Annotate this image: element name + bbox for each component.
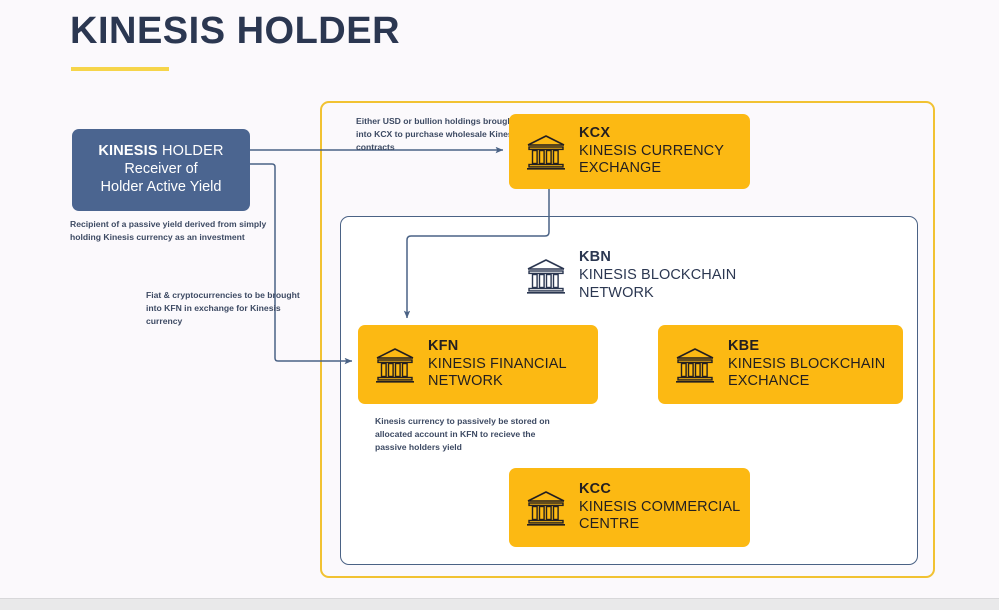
bank-icon bbox=[523, 132, 569, 172]
node-kcx[interactable]: KCX KINESIS CURRENCY EXCHANGE bbox=[509, 114, 750, 189]
node-kbn-name-line2: NETWORK bbox=[579, 285, 736, 303]
window-bottom-strip bbox=[0, 598, 999, 610]
node-kbe[interactable]: KBE KINESIS BLOCKCHAIN EXCHANCE bbox=[658, 325, 903, 404]
node-kcc-text: KCC KINESIS COMMERCIAL CENTRE bbox=[579, 481, 740, 534]
node-kfn[interactable]: KFN KINESIS FINANCIAL NETWORK bbox=[358, 325, 598, 404]
node-kcx-text: KCX KINESIS CURRENCY EXCHANGE bbox=[579, 125, 724, 178]
node-kcx-code: KCX bbox=[579, 125, 724, 143]
node-kfn-code: KFN bbox=[428, 338, 567, 356]
kinesis-holder-box[interactable]: KINESIS HOLDER Receiver of Holder Active… bbox=[72, 129, 250, 211]
node-kbn-name-line1: KINESIS BLOCKCHAIN bbox=[579, 267, 736, 285]
node-kbn: KBN KINESIS BLOCKCHAIN NETWORK bbox=[509, 244, 809, 308]
node-kfn-text: KFN KINESIS FINANCIAL NETWORK bbox=[428, 338, 567, 391]
holder-title-strong: KINESIS bbox=[98, 143, 157, 159]
diagram-canvas: KINESIS HOLDER KINESIS HOLDER Receiver bbox=[0, 0, 999, 598]
node-kcx-name-line1: KINESIS CURRENCY bbox=[579, 143, 724, 161]
bank-icon bbox=[523, 488, 569, 528]
node-kfn-name-line2: NETWORK bbox=[428, 373, 567, 391]
holder-subtitle-line2: Holder Active Yield bbox=[101, 179, 222, 197]
holder-title-rest: HOLDER bbox=[158, 143, 224, 159]
page-title: KINESIS HOLDER bbox=[70, 10, 400, 53]
node-kcx-name-line2: EXCHANGE bbox=[579, 160, 724, 178]
node-kbe-name-line2: EXCHANCE bbox=[728, 373, 885, 391]
annotation-holder-to-kcx: Either USD or bullion holdings brought i… bbox=[356, 115, 521, 154]
holder-caption: Recipient of a passive yield derived fro… bbox=[70, 218, 270, 243]
node-kcc[interactable]: KCC KINESIS COMMERCIAL CENTRE bbox=[509, 468, 750, 547]
bank-icon bbox=[372, 345, 418, 385]
node-kcc-name-line2: CENTRE bbox=[579, 516, 740, 534]
node-kbe-name-line1: KINESIS BLOCKCHAIN bbox=[728, 356, 885, 374]
holder-subtitle-line1: Receiver of bbox=[124, 161, 197, 179]
node-kfn-name-line1: KINESIS FINANCIAL bbox=[428, 356, 567, 374]
node-kbn-text: KBN KINESIS BLOCKCHAIN NETWORK bbox=[579, 249, 736, 302]
node-kbe-text: KBE KINESIS BLOCKCHAIN EXCHANCE bbox=[728, 338, 885, 391]
node-kcc-name-line1: KINESIS COMMERCIAL bbox=[579, 499, 740, 517]
bank-icon bbox=[523, 256, 569, 296]
node-kcc-code: KCC bbox=[579, 481, 740, 499]
holder-title: KINESIS HOLDER bbox=[98, 143, 223, 161]
node-kbe-code: KBE bbox=[728, 338, 885, 356]
title-underline-rule bbox=[71, 67, 169, 71]
diagram-page: KINESIS HOLDER KINESIS HOLDER Receiver bbox=[0, 0, 999, 610]
annotation-kfn-storage: Kinesis currency to passively be stored … bbox=[375, 415, 555, 454]
annotation-holder-to-kfn: Fiat & cryptocurrencies to be brought in… bbox=[146, 289, 306, 328]
node-kbn-code: KBN bbox=[579, 249, 736, 267]
bank-icon bbox=[672, 345, 718, 385]
